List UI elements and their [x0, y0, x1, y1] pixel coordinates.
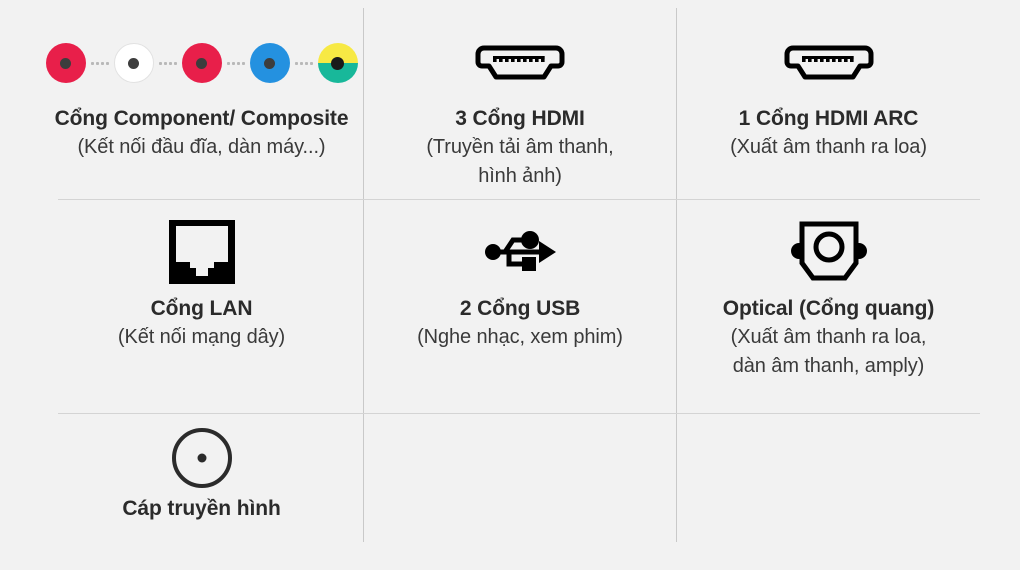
plug-blue: [250, 43, 290, 83]
port-cell-hdmi-arc: 1 Cổng HDMI ARC (Xuất âm thanh ra loa): [677, 20, 980, 199]
port-title: Cáp truyền hình: [122, 496, 280, 523]
plug-pin: [196, 58, 207, 69]
port-subtitle-line: (Xuất âm thanh ra loa): [730, 133, 927, 162]
plug-connector-dots: [222, 62, 250, 65]
port-cell-usb: 2 Cổng USB (Nghe nhạc, xem phim): [364, 208, 676, 413]
port-subtitle-line: (Nghe nhạc, xem phim): [417, 323, 623, 352]
port-title: Optical (Cổng quang): [723, 296, 934, 323]
plug-pin: [331, 57, 344, 70]
plug-red-2: [182, 43, 222, 83]
port-title: 1 Cổng HDMI ARC: [739, 106, 919, 133]
optical-toslink-port-icon: [789, 208, 869, 296]
component-composite-plugs-icon: [46, 20, 358, 106]
port-subtitle-line: (Kết nối mạng dây): [118, 323, 285, 352]
port-cell-lan: Cổng LAN (Kết nối mạng dây): [40, 208, 363, 413]
plug-pin: [60, 58, 71, 69]
plug-pin: [264, 58, 275, 69]
coaxial-antenna-port-icon: [170, 420, 234, 496]
port-subtitle-line: (Kết nối đầu đĩa, dàn máy...): [78, 133, 326, 162]
port-subtitle: (Xuất âm thanh ra loa, dàn âm thanh, amp…: [731, 323, 927, 381]
grid-divider-horizontal-top: [58, 199, 980, 200]
plug-connector-dots: [86, 62, 114, 65]
port-cell-optical: Optical (Cổng quang) (Xuất âm thanh ra l…: [677, 208, 980, 413]
port-subtitle-line: dàn âm thanh, amply): [731, 352, 927, 381]
plug-yellow-green: [318, 43, 358, 83]
port-title: 2 Cổng USB: [460, 296, 580, 323]
port-cell-component-composite: Cổng Component/ Composite (Kết nối đầu đ…: [40, 20, 363, 199]
grid-divider-horizontal-bottom: [58, 413, 980, 414]
hdmi-port-icon: [474, 20, 566, 106]
port-title: Cổng LAN: [151, 296, 253, 323]
port-subtitle: (Kết nối mạng dây): [118, 323, 285, 352]
port-subtitle: (Truyền tải âm thanh, hình ảnh): [426, 133, 613, 191]
port-cell-coaxial-tv: Cáp truyền hình: [40, 420, 363, 542]
port-title: Cổng Component/ Composite: [55, 106, 349, 133]
port-subtitle-line: (Xuất âm thanh ra loa,: [731, 323, 927, 352]
plug-pin: [128, 58, 139, 69]
port-title: 3 Cổng HDMI: [455, 106, 585, 133]
plug-connector-dots: [290, 62, 318, 65]
hdmi-arc-port-icon: [783, 20, 875, 106]
port-subtitle: (Kết nối đầu đĩa, dàn máy...): [78, 133, 326, 162]
plug-connector-dots: [154, 62, 182, 65]
port-subtitle-line: hình ảnh): [426, 162, 613, 191]
port-subtitle: (Xuất âm thanh ra loa): [730, 133, 927, 162]
lan-rj45-port-icon: [169, 208, 235, 296]
tv-ports-infographic: Cổng Component/ Composite (Kết nối đầu đ…: [0, 0, 1020, 570]
port-subtitle: (Nghe nhạc, xem phim): [417, 323, 623, 352]
plug-row: [46, 43, 358, 83]
port-cell-hdmi: 3 Cổng HDMI (Truyền tải âm thanh, hình ả…: [364, 20, 676, 199]
plug-red-1: [46, 43, 86, 83]
port-subtitle-line: (Truyền tải âm thanh,: [426, 133, 613, 162]
plug-white: [114, 43, 154, 83]
usb-trident-icon: [483, 208, 557, 296]
